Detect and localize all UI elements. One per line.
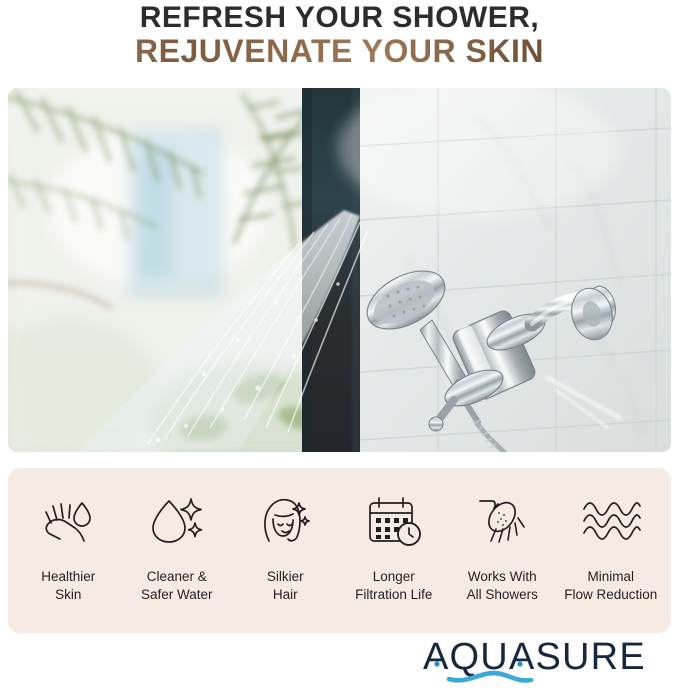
- benefit-item-works-with-all-showers: Works With All Showers: [448, 490, 557, 603]
- benefit-label: Healthier Skin: [41, 568, 95, 603]
- hand-with-droplet-icon: [38, 490, 98, 552]
- benefit-item-longer-filtration-life: Longer Filtration Life: [340, 490, 449, 603]
- hero-illustration: [8, 88, 671, 452]
- benefit-label: Minimal Flow Reduction: [564, 568, 657, 603]
- benefit-label: Longer Filtration Life: [355, 568, 432, 603]
- benefit-label: Silkier Hair: [267, 568, 304, 603]
- showerhead-spray-icon: [472, 490, 532, 552]
- benefit-label: Cleaner & Safer Water: [141, 568, 213, 603]
- page-title: REFRESH YOUR SHOWER, REJUVENATE YOUR SKI…: [0, 0, 679, 69]
- benefit-item-minimal-flow-reduction: Minimal Flow Reduction: [557, 490, 666, 603]
- headline-line-1: REFRESH YOUR SHOWER,: [0, 2, 679, 34]
- aquasure-logo: AQUASURE: [421, 633, 673, 685]
- aquasure-logo-mark: AQUASURE: [421, 633, 673, 685]
- benefit-item-silkier-hair: Silkier Hair: [231, 490, 340, 603]
- benefits-panel: Healthier Skin Cleaner & Safer Water: [8, 468, 671, 633]
- benefit-item-cleaner-safer-water: Cleaner & Safer Water: [123, 490, 232, 603]
- water-waves-icon: [580, 490, 642, 552]
- benefit-item-healthier-skin: Healthier Skin: [14, 490, 123, 603]
- benefit-label: Works With All Showers: [467, 568, 538, 603]
- droplet-sparkle-icon: [147, 490, 207, 552]
- logo-dot-a2: [517, 661, 522, 666]
- woman-hair-sparkle-icon: [255, 490, 315, 552]
- logo-dot-a1: [434, 661, 439, 666]
- aquasure-wordmark: AQUASURE: [423, 636, 646, 678]
- headline-line-2: REJUVENATE YOUR SKIN: [0, 34, 679, 69]
- hero-product-photo: [8, 88, 671, 452]
- calendar-clock-icon: [364, 490, 424, 552]
